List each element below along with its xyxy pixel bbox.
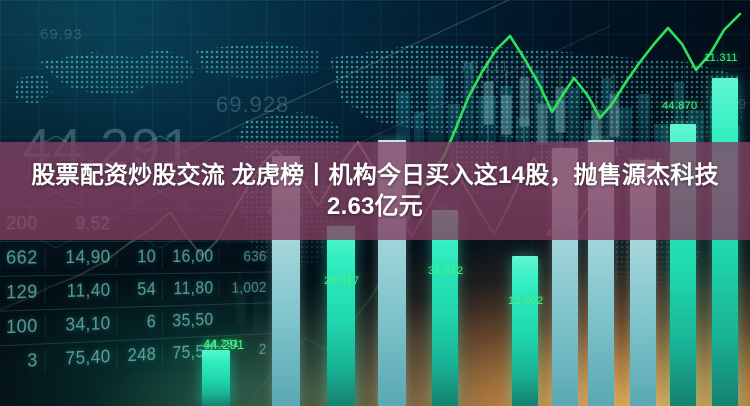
headline-banner: 股票配资炒股交流 龙虎榜丨机构今日买入这14股，抛售源杰科技 2.63亿元 (0, 142, 750, 240)
headline-line-1: 股票配资炒股交流 龙虎榜丨机构今日买入这14股，抛售源杰科技 (31, 160, 718, 191)
bar-12-002 (512, 256, 538, 406)
bar-11-311 (712, 78, 738, 406)
bar-44-291 (202, 350, 230, 406)
headline-line-2: 2.63亿元 (327, 191, 423, 222)
bar-label-31-012: 31.012 (428, 265, 463, 277)
bar-label-26-417: 26.417 (324, 275, 359, 287)
table-inline-highlight: 44.291 (203, 337, 245, 352)
bar-label-11-311: 11.311 (704, 52, 738, 64)
stock-market-banner-image: 200 9,52 662 14,90 10 16,00 636 129 11,4… (0, 0, 750, 406)
bar-label-12-002: 12.002 (508, 295, 543, 307)
bar-label-44-870: 44.870 (662, 100, 697, 112)
bar-26-417 (327, 226, 355, 406)
